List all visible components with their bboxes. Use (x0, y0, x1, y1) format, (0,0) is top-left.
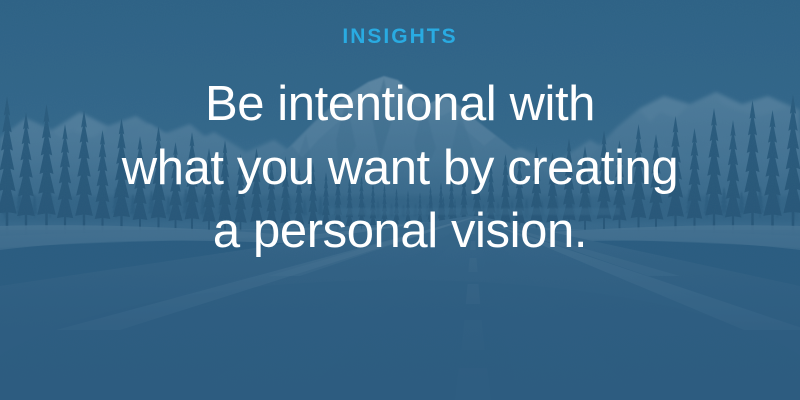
card-content: INSIGHTS Be intentional with what you wa… (0, 0, 800, 400)
headline: Be intentional with what you want by cre… (20, 73, 780, 264)
headline-line-2: what you want by creating (20, 137, 780, 201)
insights-quote-card: INSIGHTS Be intentional with what you wa… (0, 0, 800, 400)
eyebrow-label: INSIGHTS (342, 26, 457, 47)
headline-line-3: a personal vision. (20, 200, 780, 264)
headline-line-1: Be intentional with (20, 73, 780, 137)
